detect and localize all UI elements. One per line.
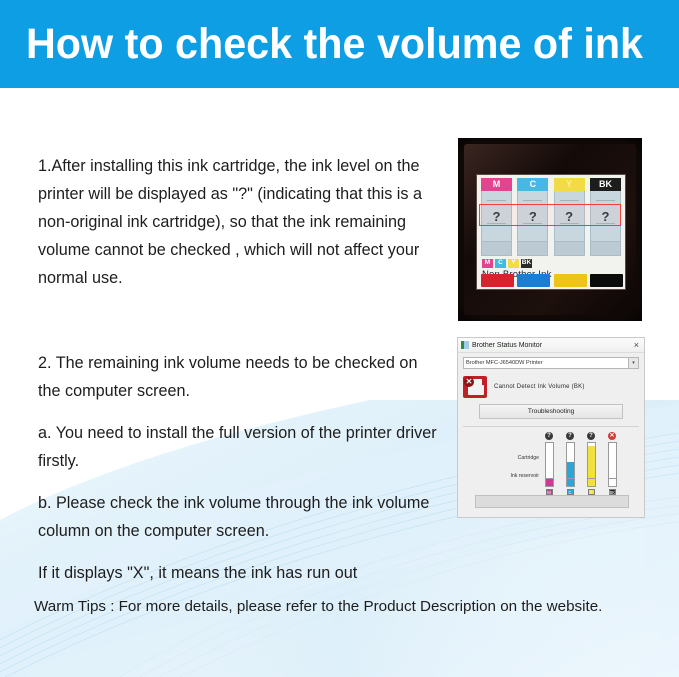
ink-tick	[523, 200, 542, 201]
printer-error-icon: ✕	[463, 376, 487, 398]
status-icon-unknown: ?	[587, 432, 595, 440]
chip-yellow: Y	[508, 259, 519, 268]
label-cartridge: Cartridge	[518, 455, 539, 461]
paragraph-2a: a. You need to install the full version …	[38, 419, 438, 475]
paragraph-1: 1.After installing this ink cartridge, t…	[38, 152, 438, 292]
ink-column-label: BK	[590, 178, 621, 191]
chip-cyan: C	[495, 259, 506, 268]
paragraph-2: 2. The remaining ink volume needs to be …	[38, 349, 438, 405]
ink-tick	[560, 200, 579, 201]
reservoir-gauge	[587, 479, 596, 487]
close-icon[interactable]: ×	[632, 341, 641, 350]
gauge-row: ? M ? C ?	[543, 432, 618, 495]
divider	[463, 426, 639, 427]
status-icon-unknown: ?	[545, 432, 553, 440]
printer-select-dropdown[interactable]: Brother MFC-J6540DW Printer ▾	[463, 357, 639, 369]
ink-column-label: Y	[554, 178, 585, 191]
cartridge-gauge	[608, 442, 617, 479]
ink-column-foot	[590, 242, 621, 256]
ink-gauges-section: Cartridge Ink reservoir ? M ?	[463, 432, 639, 494]
reservoir-gauge	[566, 479, 575, 487]
reservoir-gauge	[545, 479, 554, 487]
ink-color-chips: M C Y BK	[482, 259, 532, 268]
instruction-text-column: 1.After installing this ink cartridge, t…	[38, 152, 438, 587]
status-message: Cannot Detect Ink Volume (BK)	[494, 384, 585, 390]
chip-black: BK	[521, 259, 532, 268]
status-row: ✕ Cannot Detect Ink Volume (BK)	[463, 374, 639, 400]
warm-tips-footnote: Warm Tips : For more details, please ref…	[34, 598, 602, 615]
cartridge-gauge	[566, 442, 575, 479]
page-title: How to check the volume of ink	[26, 20, 643, 69]
gauge-yellow: ? Y	[585, 432, 597, 495]
gauge-cyan: ? C	[564, 432, 576, 495]
lcd-button-yellow[interactable]	[554, 274, 587, 287]
ink-column-foot	[517, 242, 548, 256]
app-icon	[461, 341, 469, 349]
brother-status-monitor-window: Brother Status Monitor × Brother MFC-J65…	[457, 337, 645, 518]
bottom-progress-bar[interactable]	[475, 495, 629, 508]
ink-column-foot	[554, 242, 585, 256]
paragraph-2c: If it displays "X", it means the ink has…	[38, 559, 438, 587]
gauge-black: ✕ BK	[606, 432, 618, 495]
ink-column-foot	[481, 242, 512, 256]
lcd-button-magenta[interactable]	[481, 274, 514, 287]
cartridge-gauge	[587, 442, 596, 479]
ink-tick	[596, 200, 615, 201]
ink-tick	[487, 200, 506, 201]
ink-column-label: M	[481, 178, 512, 191]
status-icon-error: ✕	[608, 432, 616, 440]
instruction-block-2: 2. The remaining ink volume needs to be …	[38, 349, 438, 587]
chevron-down-icon[interactable]: ▾	[628, 358, 638, 368]
red-highlight-box	[479, 204, 621, 226]
ink-column-label: C	[517, 178, 548, 191]
lcd-button-cyan[interactable]	[517, 274, 550, 287]
window-body: Brother MFC-J6540DW Printer ▾ ✕ Cannot D…	[458, 353, 644, 516]
cartridge-gauge	[545, 442, 554, 479]
status-icon-unknown: ?	[566, 432, 574, 440]
window-titlebar: Brother Status Monitor ×	[458, 338, 644, 353]
lcd-button-black[interactable]	[590, 274, 623, 287]
chip-magenta: M	[482, 259, 493, 268]
printer-lcd-photo: M ? C ? Y	[458, 138, 642, 321]
printer-select-value: Brother MFC-J6540DW Printer	[466, 360, 542, 366]
window-title: Brother Status Monitor	[472, 342, 632, 349]
troubleshooting-button[interactable]: Troubleshooting	[479, 404, 623, 419]
header-banner: How to check the volume of ink	[0, 0, 679, 88]
paragraph-2b: b. Please check the ink volume through t…	[38, 489, 438, 545]
gauge-magenta: ? M	[543, 432, 555, 495]
label-ink-reservoir: Ink reservoir	[510, 473, 539, 479]
reservoir-gauge	[608, 479, 617, 487]
lcd-color-buttons	[481, 274, 623, 287]
printer-lcd-screen: M ? C ? Y	[476, 174, 626, 290]
